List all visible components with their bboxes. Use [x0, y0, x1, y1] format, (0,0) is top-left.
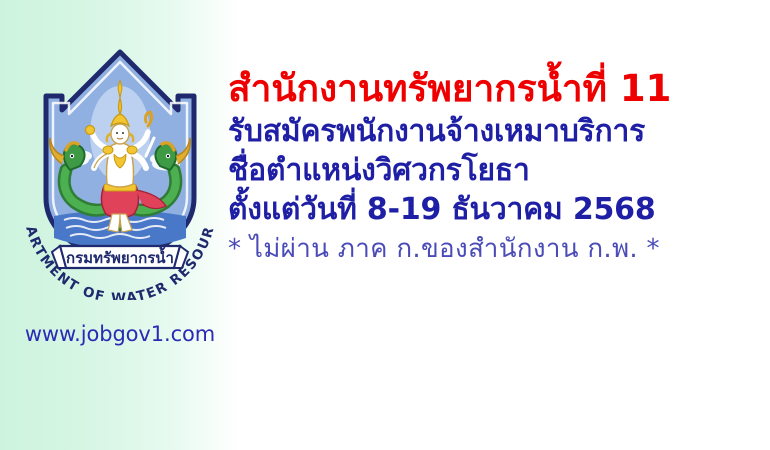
logo-banner: กรมทรัพยากรน้ำ — [52, 246, 188, 268]
logo-banner-thai-text: กรมทรัพยากรน้ำ — [66, 246, 174, 267]
announcement-text-block: สำนักงานทรัพยากรน้ำที่ 11 รับสมัครพนักงา… — [228, 70, 768, 268]
announcement-line-2: ชื่อตำแหน่งวิศวกรโยธา — [228, 151, 768, 190]
page-title: สำนักงานทรัพยากรน้ำที่ 11 — [228, 70, 768, 108]
website-url[interactable]: www.jobgov1.com — [6, 322, 234, 346]
job-announcement-poster: กรมทรัพยากรน้ำ DEPARTMENT OF WATER RESOU… — [0, 0, 770, 450]
agency-logo: กรมทรัพยากรน้ำ DEPARTMENT OF WATER RESOU… — [8, 38, 232, 300]
announcement-footnote: * ไม่ผ่าน ภาค ก.ของสำนักงาน ก.พ. * — [228, 231, 768, 269]
announcement-line-1: รับสมัครพนักงานจ้างเหมาบริการ — [228, 112, 768, 151]
department-of-water-resources-emblem-icon: กรมทรัพยากรน้ำ DEPARTMENT OF WATER RESOU… — [8, 38, 232, 300]
announcement-line-3: ตั้งแต่วันที่ 8-19 ธันวาคม 2568 — [228, 190, 768, 229]
